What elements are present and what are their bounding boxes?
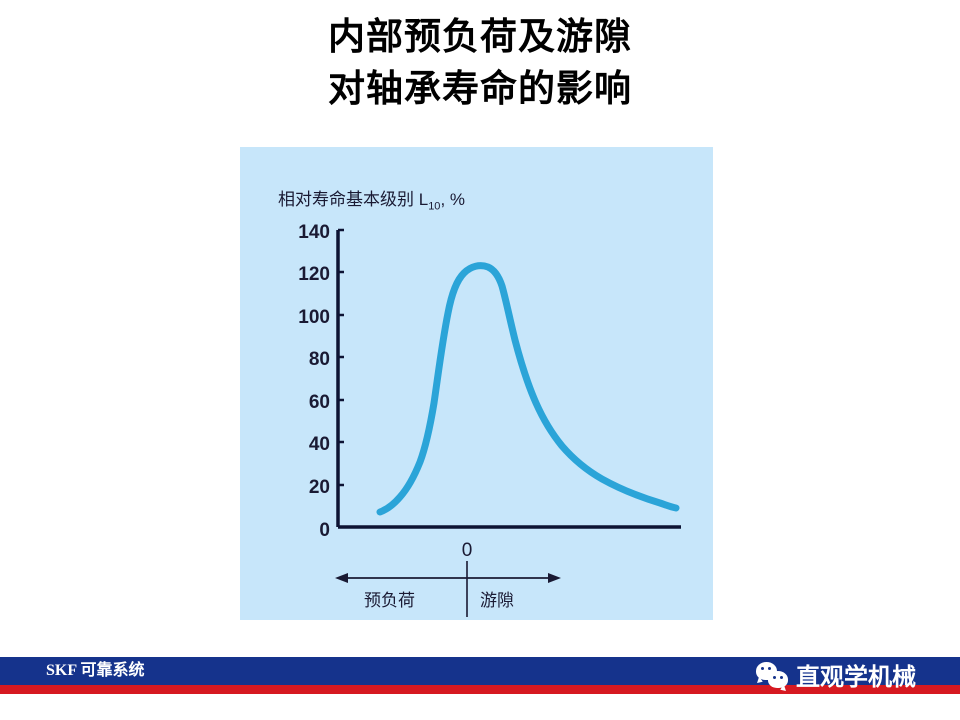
y-tick-label-100: 100 bbox=[298, 307, 330, 328]
y-tick-label-120: 120 bbox=[298, 264, 330, 285]
y-tick-label-0: 0 bbox=[319, 520, 330, 541]
footer-watermark: 直观学机械 bbox=[756, 657, 916, 694]
wechat-icon bbox=[756, 661, 790, 691]
y-tick-label-40: 40 bbox=[309, 434, 330, 455]
life-vs-preload-clearance-chart: 140 120 100 80 60 40 20 0 0 预负荷 游隙 bbox=[240, 147, 713, 620]
preload-clearance-axis-arrow bbox=[335, 573, 561, 583]
y-tick-label-80: 80 bbox=[309, 349, 330, 370]
page-title-line-1: 内部预负荷及游隙 bbox=[0, 12, 960, 64]
page-title-line-2: 对轴承寿命的影响 bbox=[0, 64, 960, 116]
zero-marker-label: 0 bbox=[462, 540, 473, 561]
y-tick-label-140: 140 bbox=[298, 222, 330, 243]
footer-brand-text: SKF 可靠系统 bbox=[46, 660, 145, 682]
life-curve bbox=[380, 266, 676, 512]
footer-watermark-text: 直观学机械 bbox=[796, 657, 916, 692]
preload-region-label: 预负荷 bbox=[364, 591, 415, 610]
clearance-region-label: 游隙 bbox=[480, 591, 514, 610]
footer-bar: SKF 可靠系统 直观学机械 bbox=[0, 657, 960, 720]
y-tick-label-60: 60 bbox=[309, 392, 330, 413]
y-tick-label-20: 20 bbox=[309, 477, 330, 498]
chart-panel: 相对寿命基本级别 L10, % 140 120 100 80 60 40 20 … bbox=[240, 147, 713, 620]
page-title: 内部预负荷及游隙 对轴承寿命的影响 bbox=[0, 12, 960, 116]
